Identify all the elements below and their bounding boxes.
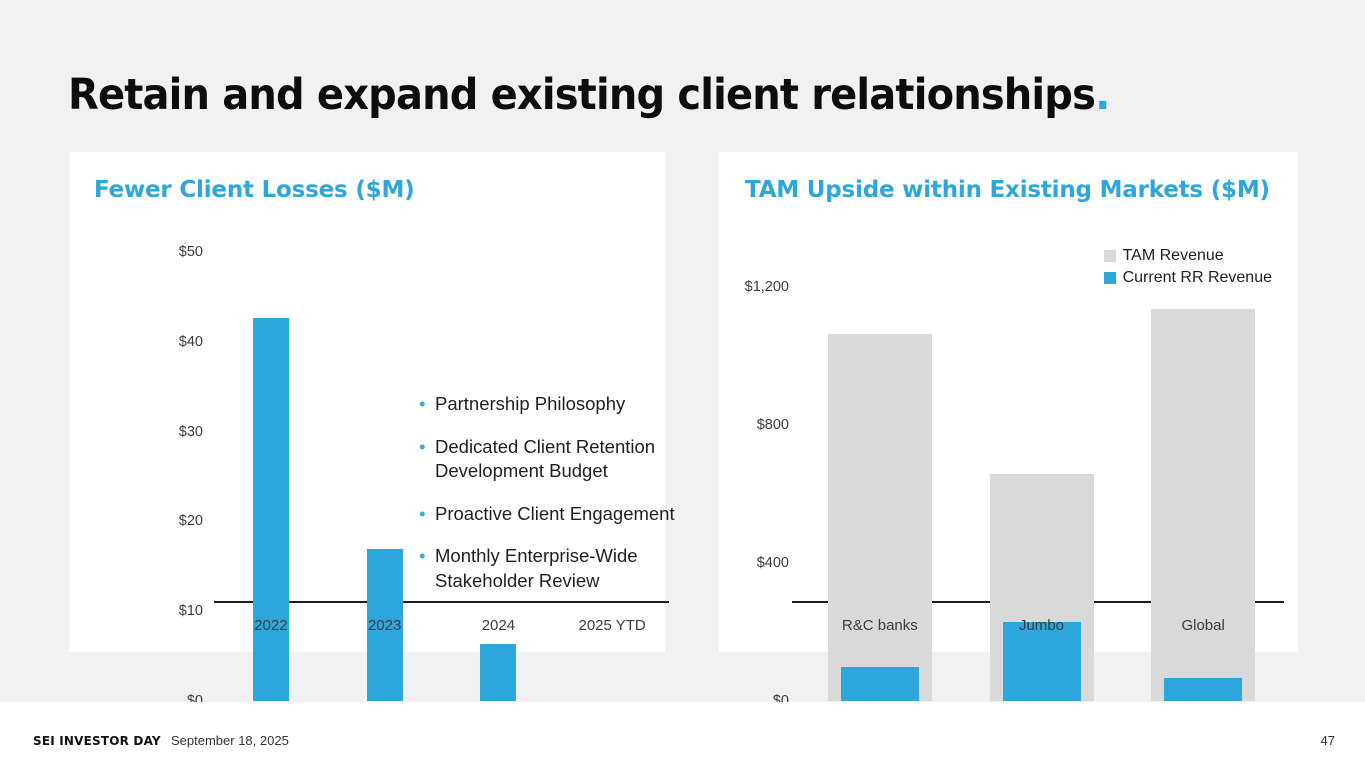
y-axis-tick-label: $800 <box>757 417 789 433</box>
bar-tam-revenue <box>828 334 932 701</box>
slide-canvas: Retain and expand existing client relati… <box>0 0 1365 768</box>
footer-brand: SEI INVESTOR DAY <box>33 733 161 748</box>
x-axis-tick-label: R&C banks <box>799 617 961 634</box>
x-axis-tick-label: Global <box>1122 617 1284 634</box>
page-title: Retain and expand existing client relati… <box>68 70 1109 120</box>
bar <box>480 644 516 701</box>
y-axis-tick-label: $20 <box>179 513 203 529</box>
y-axis-tick-label: $30 <box>179 424 203 440</box>
list-item: •Proactive Client Engagement <box>417 502 717 527</box>
y-axis-tick-label: $1,200 <box>745 279 789 295</box>
right-chart-y-axis: $0$400$800$1,200 <box>709 252 789 701</box>
footer-page-number: 47 <box>1321 733 1335 748</box>
bullet-dot-icon: • <box>419 435 425 460</box>
bar-current-rr-revenue <box>841 667 919 701</box>
footer-date: September 18, 2025 <box>171 733 289 748</box>
bar <box>253 318 289 701</box>
bullet-dot-icon: • <box>419 392 425 417</box>
list-item: •Partnership Philosophy <box>417 392 717 417</box>
bullet-dot-icon: • <box>419 544 425 569</box>
list-item-label: Monthly Enterprise-Wide Stakeholder Revi… <box>435 545 638 591</box>
x-axis-tick-label: 2024 <box>442 617 556 634</box>
list-item: •Monthly Enterprise-Wide Stakeholder Rev… <box>417 544 717 593</box>
y-axis-tick-label: $10 <box>179 603 203 619</box>
list-item: •Dedicated Client Retention Development … <box>417 435 717 484</box>
x-axis-tick-label: 2022 <box>214 617 328 634</box>
x-axis-tick-label: 2025 YTD <box>555 617 669 634</box>
tam-upside-chart: $0$400$800$1,200 R&C banksJumboGlobal <box>719 152 1298 652</box>
list-item-label: Dedicated Client Retention Development B… <box>435 436 655 482</box>
page-title-text: Retain and expand existing client relati… <box>68 70 1095 120</box>
left-chart-y-axis: $0$10$20$30$40$50 <box>99 252 203 701</box>
y-axis-tick-label: $400 <box>757 555 789 571</box>
bullet-dot-icon: • <box>419 502 425 527</box>
list-item-label: Proactive Client Engagement <box>435 503 675 524</box>
right-chart-card: TAM Upside within Existing Markets ($M) … <box>719 152 1298 652</box>
list-item-label: Partnership Philosophy <box>435 393 625 414</box>
y-axis-tick-label: $40 <box>179 334 203 350</box>
page-title-accent-dot: . <box>1095 70 1109 120</box>
right-chart-x-axis: R&C banksJumboGlobal <box>799 603 1284 643</box>
slide-footer: SEI INVESTOR DAY September 18, 2025 47 <box>0 702 1365 768</box>
left-chart-card: Fewer Client Losses ($M) $0$10$20$30$40$… <box>69 152 665 652</box>
bar-current-rr-revenue <box>1164 678 1242 701</box>
y-axis-tick-label: $50 <box>179 244 203 260</box>
retention-bullet-list: •Partnership Philosophy•Dedicated Client… <box>417 392 717 611</box>
x-axis-tick-label: Jumbo <box>961 617 1123 634</box>
x-axis-tick-label: 2023 <box>328 617 442 634</box>
